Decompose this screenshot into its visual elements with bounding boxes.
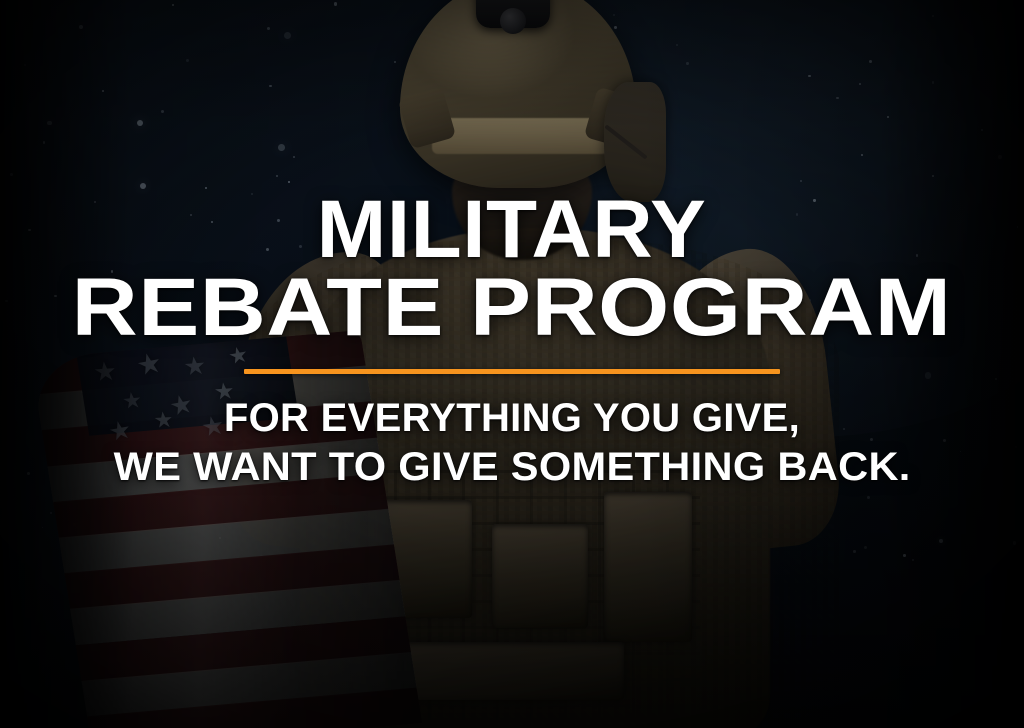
banner-content: MILITARY REBATE PROGRAM FOR EVERYTHING Y… [0, 0, 1024, 728]
subheadline-line-1: FOR EVERYTHING YOU GIVE, [129, 396, 895, 442]
page-title: MILITARY REBATE PROGRAM [117, 192, 906, 347]
military-rebate-banner: ★★★★★★★★★★ MILITARY REBATE PROGRAM FOR E… [0, 0, 1024, 728]
orange-divider [244, 369, 780, 374]
page-subtitle: FOR EVERYTHING YOU GIVE, WE WANT TO GIVE… [129, 396, 895, 491]
subheadline-line-2: WE WANT TO GIVE SOMETHING BACK. [113, 445, 910, 491]
headline-line-1: MILITARY [110, 192, 915, 268]
headline-line-2: REBATE PROGRAM [72, 270, 952, 346]
